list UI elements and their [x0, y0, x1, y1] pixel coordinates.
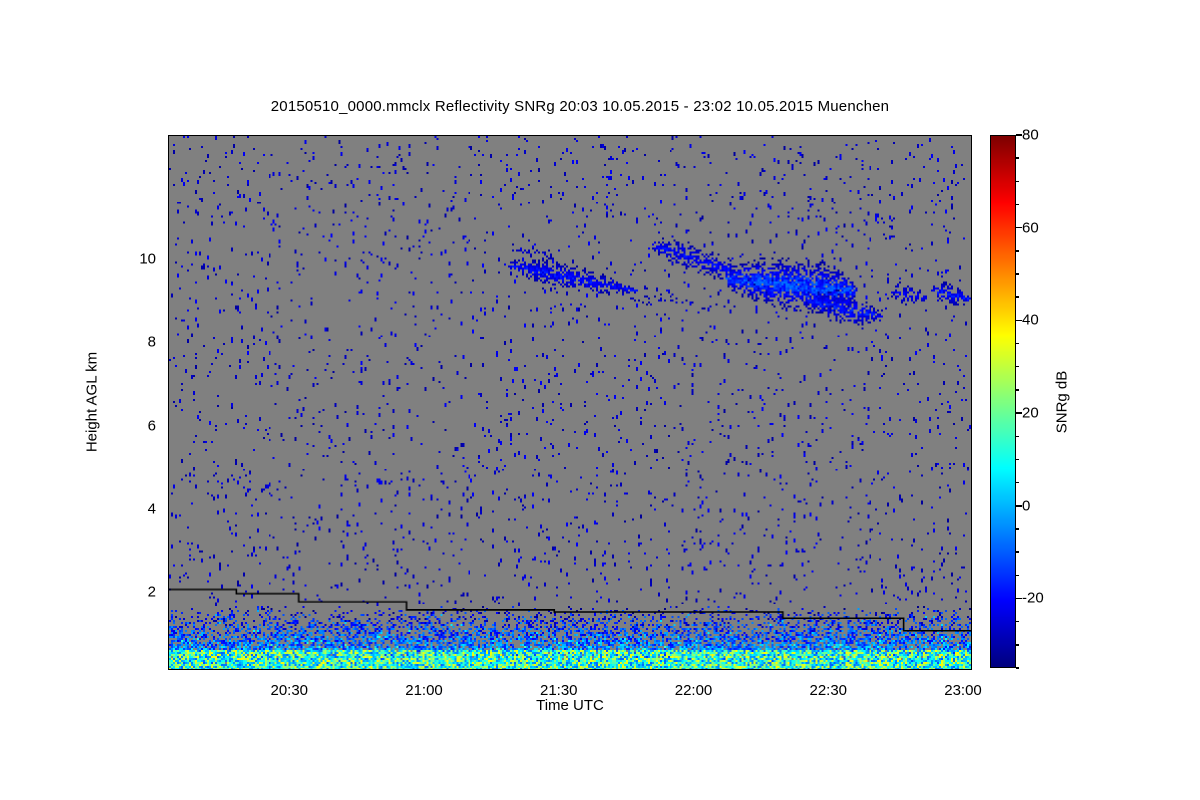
axis-major-tick	[971, 259, 972, 261]
axis-minor-tick	[971, 530, 972, 532]
axis-minor-tick	[168, 239, 169, 241]
colorbar-minor-tick	[1016, 389, 1019, 391]
colorbar-ticklabel: 0	[1022, 497, 1030, 514]
y-axis-ticklabel: 6	[148, 417, 156, 434]
axis-minor-tick	[168, 655, 169, 657]
colorbar-ticklabel: 80	[1022, 127, 1039, 144]
axis-minor-tick	[168, 363, 169, 365]
axis-minor-tick	[168, 218, 169, 220]
axis-major-tick	[168, 259, 169, 261]
axis-major-tick	[168, 343, 169, 345]
axis-minor-tick	[168, 530, 169, 532]
axis-minor-tick	[168, 634, 169, 636]
colorbar-label: SNRg dB	[1054, 371, 1071, 434]
y-axis-label: Height AGL km	[84, 352, 101, 452]
axis-major-tick	[168, 509, 169, 511]
colorbar-minor-tick	[1016, 204, 1019, 206]
x-axis-ticklabel: 22:00	[675, 682, 713, 699]
colorbar-minor-tick	[1016, 575, 1019, 577]
axis-minor-tick	[971, 488, 972, 490]
axis-minor-tick	[168, 301, 169, 303]
axis-minor-tick	[971, 634, 972, 636]
radar-reflectivity-figure: 20150510_0000.mmclx Reflectivity SNRg 20…	[0, 0, 1200, 800]
x-axis-ticklabel: 23:00	[944, 682, 982, 699]
axis-minor-tick	[971, 384, 972, 386]
colorbar-ticklabel: 40	[1022, 312, 1039, 329]
axis-minor-tick	[168, 572, 169, 574]
page-title: 20150510_0000.mmclx Reflectivity SNRg 20…	[0, 98, 1160, 115]
axis-major-tick	[168, 426, 169, 428]
x-axis-label: Time UTC	[536, 697, 604, 714]
axis-minor-tick	[971, 405, 972, 407]
axis-minor-tick	[168, 447, 169, 449]
heatmap-plot-area[interactable]	[168, 135, 972, 670]
axis-minor-tick	[168, 488, 169, 490]
colorbar-minor-tick	[1016, 528, 1019, 530]
axis-minor-tick	[971, 239, 972, 241]
axis-minor-tick	[168, 322, 169, 324]
axis-minor-tick	[971, 363, 972, 365]
axis-minor-tick	[971, 197, 972, 199]
axis-minor-tick	[168, 280, 169, 282]
axis-minor-tick	[168, 613, 169, 615]
axis-minor-tick	[971, 218, 972, 220]
axis-minor-tick	[168, 467, 169, 469]
axis-minor-tick	[971, 447, 972, 449]
axis-minor-tick	[168, 551, 169, 553]
colorbar-minor-tick	[1016, 644, 1019, 646]
axis-major-tick	[971, 509, 972, 511]
colorbar-ticklabel: 60	[1022, 219, 1039, 236]
x-axis-ticklabel: 22:30	[809, 682, 847, 699]
colorbar-minor-tick	[1016, 157, 1019, 159]
axis-minor-tick	[971, 551, 972, 553]
y-axis-ticklabel: 2	[148, 584, 156, 601]
axis-minor-tick	[971, 572, 972, 574]
colorbar-minor-tick	[1016, 482, 1019, 484]
colorbar-minor-tick	[1016, 250, 1019, 252]
axis-major-tick	[971, 176, 972, 178]
axis-major-tick	[971, 592, 972, 594]
colorbar-minor-tick	[1016, 273, 1019, 275]
axis-minor-tick	[971, 467, 972, 469]
colorbar-minor-tick	[1016, 343, 1019, 345]
y-axis-ticklabel: 4	[148, 500, 156, 517]
reflectivity-field-canvas	[169, 136, 971, 669]
colorbar-minor-tick	[1016, 459, 1019, 461]
colorbar-minor-tick	[1016, 436, 1019, 438]
axis-major-tick	[971, 343, 972, 345]
axis-minor-tick	[971, 655, 972, 657]
colorbar-minor-tick	[1016, 181, 1019, 183]
x-axis-ticklabel: 21:00	[405, 682, 443, 699]
axis-major-tick	[971, 426, 972, 428]
colorbar-minor-tick	[1016, 667, 1019, 669]
axis-minor-tick	[168, 384, 169, 386]
axis-minor-tick	[971, 613, 972, 615]
axis-minor-tick	[168, 155, 169, 157]
y-axis-ticklabel: 10	[139, 251, 156, 268]
colorbar-minor-tick	[1016, 551, 1019, 553]
x-axis-ticklabel: 20:30	[270, 682, 308, 699]
axis-minor-tick	[168, 197, 169, 199]
colorbar-minor-tick	[1016, 621, 1019, 623]
axis-minor-tick	[971, 155, 972, 157]
colorbar-ticklabel: -20	[1022, 590, 1044, 607]
axis-minor-tick	[971, 322, 972, 324]
y-axis-ticklabel: 8	[148, 334, 156, 351]
axis-major-tick	[168, 592, 169, 594]
colorbar-ticklabel: 20	[1022, 405, 1039, 422]
colorbar[interactable]	[990, 135, 1016, 668]
axis-minor-tick	[168, 405, 169, 407]
colorbar-minor-tick	[1016, 296, 1019, 298]
axis-major-tick	[168, 176, 169, 178]
axis-minor-tick	[971, 280, 972, 282]
colorbar-gradient	[991, 136, 1015, 667]
axis-minor-tick	[971, 301, 972, 303]
colorbar-minor-tick	[1016, 366, 1019, 368]
